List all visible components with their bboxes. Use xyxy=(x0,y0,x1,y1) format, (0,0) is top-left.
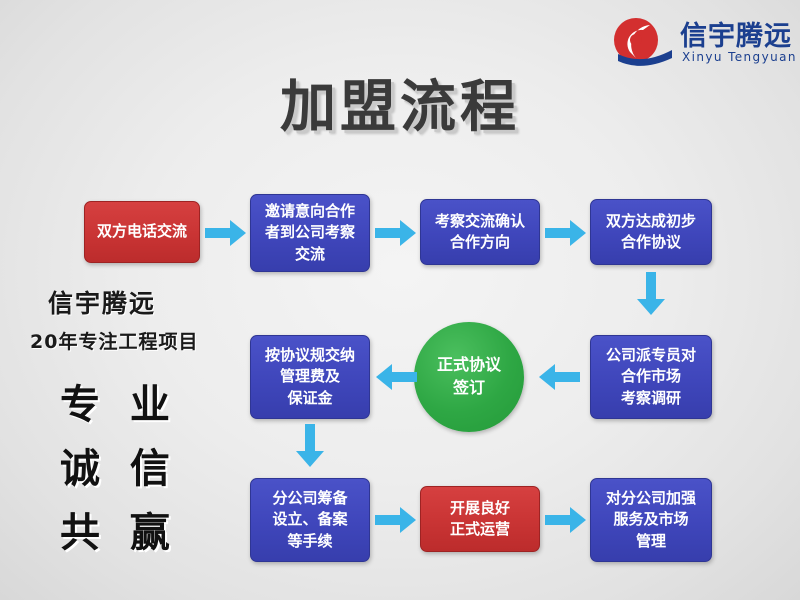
flow-node-preliminary-agreement[interactable]: 双方达成初步 合作协议 xyxy=(590,199,712,265)
flow-node-branch-service[interactable]: 对分公司加强 服务及市场 管理 xyxy=(590,478,712,562)
flow-node-market-research[interactable]: 公司派专员对 合作市场 考察调研 xyxy=(590,335,712,419)
xinyu-tengyuan-logo-mark-icon xyxy=(610,14,674,68)
flow-node-invite-visit[interactable]: 邀请意向合作 者到公司考察 交流 xyxy=(250,194,370,272)
flow-node-sign-agreement[interactable]: 正式协议 签订 xyxy=(414,322,524,432)
logo-text-cn: 信宇腾远 xyxy=(680,14,792,53)
slide-canvas: 信宇腾远 Xinyu Tengyuan 加盟流程 信宇腾远 20年专注工程项目 … xyxy=(0,0,800,600)
slogan-subtitle: 20年专注工程项目 xyxy=(30,327,198,354)
arrow-n3-n4 xyxy=(545,219,587,247)
flow-node-branch-setup[interactable]: 分公司筹备 设立、备案 等手续 xyxy=(250,478,370,562)
slogan-brand: 信宇腾远 xyxy=(48,284,156,320)
arrow-n1-n2 xyxy=(205,219,247,247)
page-title: 加盟流程 xyxy=(0,62,800,143)
arrow-n7-n8 xyxy=(295,424,325,468)
flow-node-pay-fees[interactable]: 按协议规交纳 管理费及 保证金 xyxy=(250,335,370,419)
slogan-word-2: 诚 信 xyxy=(60,436,178,494)
arrow-n8-n9 xyxy=(375,506,417,534)
flow-node-phone-contact[interactable]: 双方电话交流 xyxy=(84,201,200,263)
arrow-n4-n5 xyxy=(636,272,666,316)
flow-node-official-operation[interactable]: 开展良好 正式运营 xyxy=(420,486,540,552)
arrow-n2-n3 xyxy=(375,219,417,247)
flow-node-confirm-direction[interactable]: 考察交流确认 合作方向 xyxy=(420,199,540,265)
arrow-n9-n10 xyxy=(545,506,587,534)
slogan-word-3: 共 赢 xyxy=(60,500,178,558)
arrow-n5-n6 xyxy=(538,363,580,391)
slogan-word-1: 专 业 xyxy=(60,372,178,430)
arrow-n6-n7 xyxy=(375,363,417,391)
